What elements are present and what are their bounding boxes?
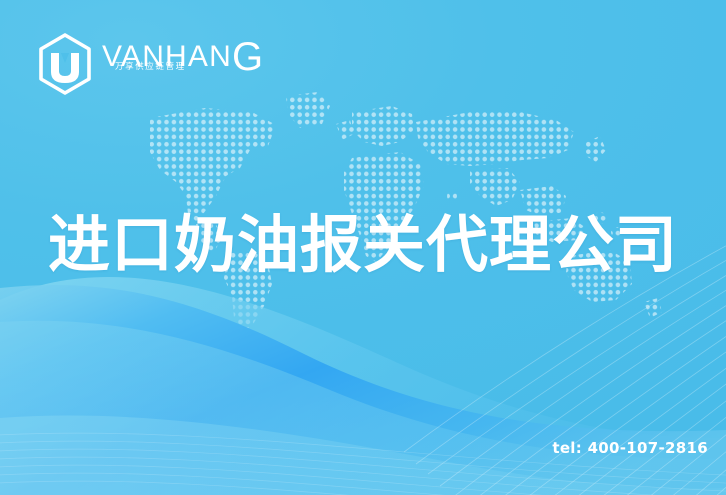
contact-phone: tel: 400-107-2816 bbox=[552, 439, 708, 457]
brand-wordmark: VANHANG 万享供应链管理 bbox=[102, 41, 263, 87]
brand-subtitle: 万享供应链管理 bbox=[115, 61, 186, 71]
brand-logo[interactable]: VANHANG 万享供应链管理 bbox=[36, 33, 263, 95]
page-title: 进口奶油报关代理公司 bbox=[0, 212, 726, 278]
promo-banner: VANHANG 万享供应链管理 进口奶油报关代理公司 tel: 400-107-… bbox=[0, 0, 726, 495]
brand-wordmark-g: G bbox=[232, 35, 263, 79]
vanhang-hexagon-logo-icon bbox=[36, 33, 94, 95]
